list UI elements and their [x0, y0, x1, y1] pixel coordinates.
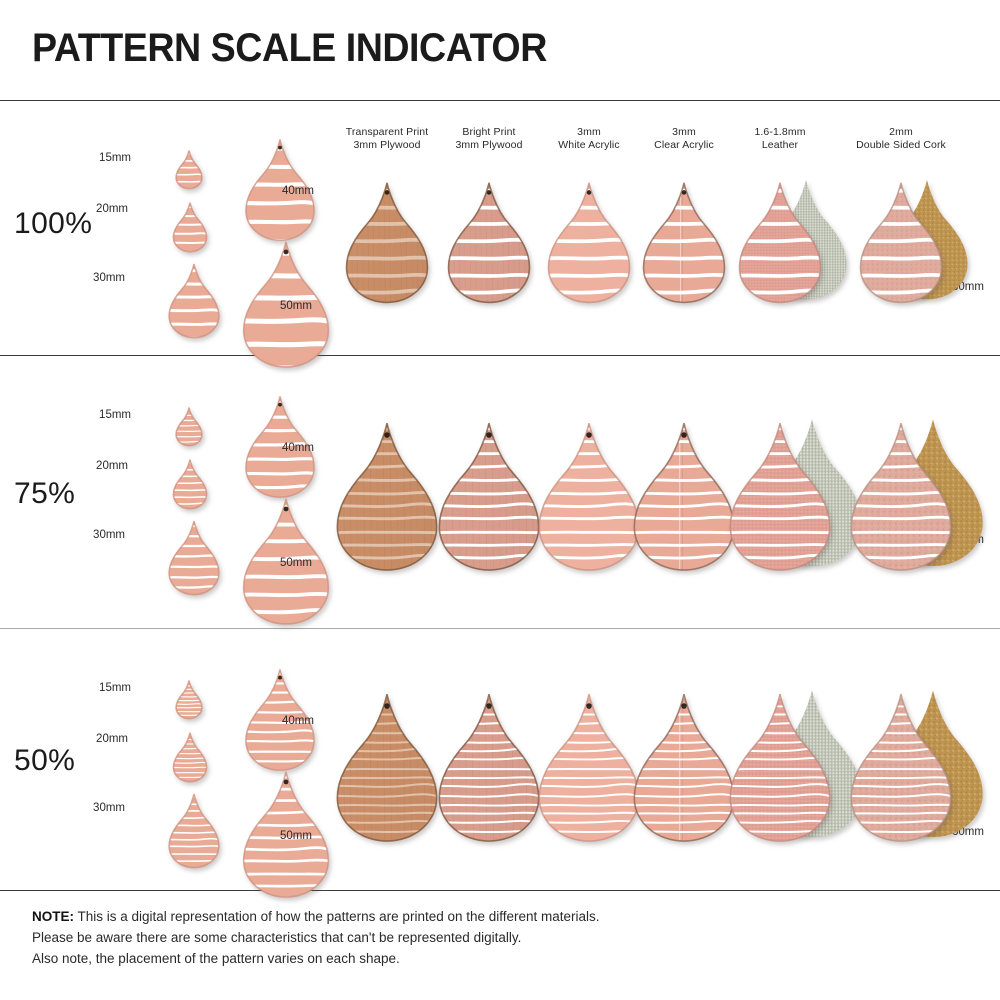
row-100: 100%	[0, 100, 1000, 355]
size-reference-drop-15mm	[175, 150, 203, 189]
size-reference-drop-15mm	[175, 680, 203, 719]
size-label-20mm: 20mm	[96, 203, 128, 216]
size-label-50mm: 50mm	[280, 300, 312, 313]
scale-percent-label: 100%	[14, 208, 92, 240]
scale-percent-label: 75%	[14, 478, 75, 510]
row-50: 50%	[0, 630, 1000, 890]
material-drop-bright-print-plywood	[435, 421, 543, 572]
material-drop-transparent-print-plywood	[333, 692, 441, 843]
note-label: NOTE:	[32, 909, 74, 924]
size-label-15mm: 15mm	[99, 682, 131, 695]
material-drop-white-acrylic	[545, 181, 633, 304]
row-75: 75%	[0, 357, 1000, 628]
size-reference-drop-30mm	[167, 520, 221, 596]
page-header: PATTERN SCALE INDICATOR	[0, 0, 1000, 100]
note-block: NOTE: This is a digital representation o…	[32, 906, 932, 969]
material-drop-double-sided-cork	[847, 692, 955, 843]
page-title: PATTERN SCALE INDICATOR	[32, 26, 547, 70]
note-line-1: NOTE: This is a digital representation o…	[32, 906, 932, 927]
size-label-40mm: 40mm	[282, 442, 314, 455]
size-label-50mm: 50mm	[280, 830, 312, 843]
material-drop-double-sided-cork	[847, 421, 955, 572]
size-label-15mm: 15mm	[99, 152, 131, 165]
material-drop-bright-print-plywood	[435, 692, 543, 843]
size-reference-drop-30mm	[167, 263, 221, 339]
size-label-15mm: 15mm	[99, 409, 131, 422]
size-reference-drop-30mm	[167, 793, 221, 869]
material-drop-white-acrylic	[535, 421, 643, 572]
material-drop-clear-acrylic	[630, 692, 738, 843]
divider-row-100	[0, 355, 1000, 356]
divider-row-50	[0, 890, 1000, 891]
size-label-30mm: 30mm	[93, 802, 125, 815]
material-drop-leather	[726, 421, 834, 572]
material-drop-bright-print-plywood	[445, 181, 533, 304]
size-reference-drop-20mm	[172, 459, 208, 509]
size-label-30mm: 30mm	[93, 272, 125, 285]
size-label-20mm: 20mm	[96, 733, 128, 746]
size-reference-drop-20mm	[172, 202, 208, 252]
divider-row-75	[0, 628, 1000, 629]
scale-percent-label: 50%	[14, 745, 75, 777]
size-reference-drop-15mm	[175, 407, 203, 446]
size-label-40mm: 40mm	[282, 715, 314, 728]
note-line-3: Also note, the placement of the pattern …	[32, 948, 932, 969]
note-line-2: Please be aware there are some character…	[32, 927, 932, 948]
material-drop-leather	[726, 692, 834, 843]
size-label-30mm: 30mm	[93, 529, 125, 542]
material-drop-clear-acrylic	[640, 181, 728, 304]
note-line-1-text: This is a digital representation of how …	[74, 909, 600, 924]
material-drop-leather	[736, 181, 824, 304]
material-drop-transparent-print-plywood	[343, 181, 431, 304]
material-drop-white-acrylic	[535, 692, 643, 843]
size-label-20mm: 20mm	[96, 460, 128, 473]
size-label-40mm: 40mm	[282, 185, 314, 198]
size-reference-drop-20mm	[172, 732, 208, 782]
pattern-scale-indicator-page: PATTERN SCALE INDICATOR Transparent Prin…	[0, 0, 1000, 1000]
material-drop-transparent-print-plywood	[333, 421, 441, 572]
size-label-50mm: 50mm	[280, 557, 312, 570]
material-drop-double-sided-cork	[857, 181, 945, 304]
material-drop-clear-acrylic	[630, 421, 738, 572]
